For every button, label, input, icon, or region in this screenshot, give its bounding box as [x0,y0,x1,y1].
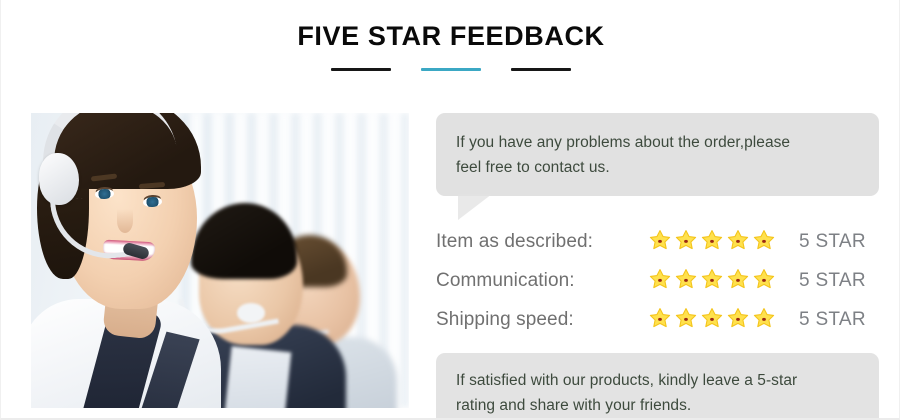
page-title: FIVE STAR FEEDBACK [1,20,900,52]
rating-value: 5 STAR [799,270,866,292]
divider-center [421,68,481,71]
star-icon [726,267,750,296]
star-icon [700,306,724,335]
star-icon [648,228,672,257]
review-request-note: If satisfied with our products, kindly l… [436,353,879,420]
contact-bubble-line-1: If you have any problems about the order… [456,130,859,155]
star-rating-group [648,228,780,257]
note-line-1: If satisfied with our products, kindly l… [456,368,859,393]
divider-right [511,68,571,71]
star-icon [752,306,776,335]
rating-label: Item as described: [436,231,648,253]
star-icon [726,306,750,335]
contact-bubble-line-2: feel free to contact us. [456,155,859,180]
rating-list: Item as described: 5 STAR Communication: [436,225,879,337]
note-line-2: rating and share with your friends. [456,393,859,418]
star-icon [674,267,698,296]
rating-row: Shipping speed: 5 STAR [436,303,879,337]
star-icon [752,267,776,296]
rating-row: Item as described: 5 STAR [436,225,879,259]
rating-row: Communication: 5 STAR [436,264,879,298]
star-icon [752,228,776,257]
star-icon [648,267,672,296]
star-icon [700,267,724,296]
content-column: If you have any problems about the order… [436,113,879,420]
divider-left [331,68,391,71]
rating-value: 5 STAR [799,309,866,331]
speech-bubble-tail-icon [458,194,492,220]
star-icon [700,228,724,257]
star-rating-group [648,267,780,296]
feedback-banner: FIVE STAR FEEDBACK [0,0,900,420]
contact-speech-bubble: If you have any problems about the order… [436,113,879,196]
star-rating-group [648,306,780,335]
agent-2-earpiece [237,303,265,323]
divider-group [1,68,900,71]
star-icon [674,228,698,257]
agent-2-shirt [223,346,292,408]
rating-label: Shipping speed: [436,309,648,331]
agent-1-headset-earcup [39,153,79,205]
star-icon [648,306,672,335]
star-icon [674,306,698,335]
photo-illustration [31,113,409,408]
header: FIVE STAR FEEDBACK [1,20,900,71]
customer-service-photo [31,113,409,408]
rating-value: 5 STAR [799,231,866,253]
rating-label: Communication: [436,270,648,292]
star-icon [726,228,750,257]
